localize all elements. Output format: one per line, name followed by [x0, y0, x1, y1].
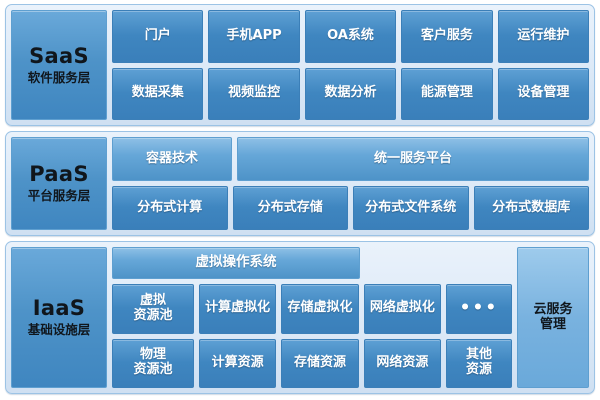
saas-cell-oa-system[interactable]: OA系统 — [305, 10, 396, 63]
layer-saas-abbr: SaaS — [29, 46, 89, 67]
saas-cell-portal[interactable]: 门户 — [112, 10, 203, 63]
iaas-cell-storage-resource[interactable]: 存储资源 — [281, 339, 358, 389]
layer-saas: SaaS 软件服务层 门户 手机APP OA系统 客户服务 运行维护 数据采集 … — [5, 4, 595, 126]
iaas-row-2: 物理 资源池 计算资源 存储资源 网络资源 其他 资源 — [112, 339, 512, 389]
layer-saas-body: 门户 手机APP OA系统 客户服务 运行维护 数据采集 视频监控 数据分析 能… — [112, 10, 589, 120]
iaas-main-stack: 虚拟操作系统 虚拟 资源池 计算虚拟化 存储虚拟化 网络虚拟化 ••• 物理 资… — [112, 247, 512, 388]
paas-cell-unified-service-platform[interactable]: 统一服务平台 — [237, 137, 589, 181]
iaas-cell-more-virtualization-ellipsis[interactable]: ••• — [446, 284, 512, 334]
paas-row-1: 容器技术 统一服务平台 — [112, 137, 589, 181]
iaas-cell-compute-virtualization[interactable]: 计算虚拟化 — [199, 284, 276, 334]
saas-row-1: 门户 手机APP OA系统 客户服务 运行维护 — [112, 10, 589, 63]
layer-iaas: IaaS 基础设施层 虚拟操作系统 虚拟 资源池 计算虚拟化 存储虚拟化 网络虚… — [5, 241, 595, 394]
iaas-os-row: 虚拟操作系统 — [112, 247, 512, 279]
saas-cell-mobile-app[interactable]: 手机APP — [208, 10, 299, 63]
iaas-cell-compute-resource[interactable]: 计算资源 — [199, 339, 276, 389]
iaas-row-1: 虚拟 资源池 计算虚拟化 存储虚拟化 网络虚拟化 ••• — [112, 284, 512, 334]
iaas-cell-cloud-service-management[interactable]: 云服务 管理 — [517, 247, 589, 388]
paas-cell-distributed-database[interactable]: 分布式数据库 — [474, 186, 590, 230]
saas-cell-data-collection[interactable]: 数据采集 — [112, 68, 203, 121]
saas-cell-video-monitoring[interactable]: 视频监控 — [208, 68, 299, 121]
iaas-cell-network-resource[interactable]: 网络资源 — [364, 339, 441, 389]
paas-cell-distributed-computing[interactable]: 分布式计算 — [112, 186, 228, 230]
iaas-cell-virtual-operating-system[interactable]: 虚拟操作系统 — [112, 247, 360, 279]
saas-cell-energy-management[interactable]: 能源管理 — [401, 68, 492, 121]
layer-paas-body: 容器技术 统一服务平台 分布式计算 分布式存储 分布式文件系统 分布式数据库 — [112, 137, 589, 230]
layer-paas-abbr: PaaS — [29, 164, 89, 185]
paas-row-2: 分布式计算 分布式存储 分布式文件系统 分布式数据库 — [112, 186, 589, 230]
iaas-cell-virtual-resource-pool[interactable]: 虚拟 资源池 — [112, 284, 194, 334]
saas-cell-data-analysis[interactable]: 数据分析 — [305, 68, 396, 121]
layer-iaas-title: IaaS 基础设施层 — [11, 247, 107, 388]
paas-cell-distributed-storage[interactable]: 分布式存储 — [233, 186, 349, 230]
saas-cell-customer-service[interactable]: 客户服务 — [401, 10, 492, 63]
saas-cell-device-management[interactable]: 设备管理 — [498, 68, 589, 121]
layer-saas-name-cn: 软件服务层 — [28, 72, 91, 85]
layer-iaas-abbr: IaaS — [33, 298, 85, 319]
iaas-cell-storage-virtualization[interactable]: 存储虚拟化 — [281, 284, 358, 334]
iaas-cell-physical-resource-pool[interactable]: 物理 资源池 — [112, 339, 194, 389]
paas-cell-distributed-file-system[interactable]: 分布式文件系统 — [353, 186, 469, 230]
layer-iaas-name-cn: 基础设施层 — [28, 324, 91, 337]
iaas-cell-other-resource[interactable]: 其他 资源 — [446, 339, 512, 389]
layer-paas: PaaS 平台服务层 容器技术 统一服务平台 分布式计算 分布式存储 分布式文件… — [5, 131, 595, 236]
saas-row-2: 数据采集 视频监控 数据分析 能源管理 设备管理 — [112, 68, 589, 121]
layer-iaas-body: 虚拟操作系统 虚拟 资源池 计算虚拟化 存储虚拟化 网络虚拟化 ••• 物理 资… — [112, 247, 589, 388]
layer-paas-title: PaaS 平台服务层 — [11, 137, 107, 230]
saas-cell-operation-maintenance[interactable]: 运行维护 — [498, 10, 589, 63]
layer-paas-name-cn: 平台服务层 — [28, 190, 91, 203]
layer-saas-title: SaaS 软件服务层 — [11, 10, 107, 120]
cloud-architecture-diagram: SaaS 软件服务层 门户 手机APP OA系统 客户服务 运行维护 数据采集 … — [0, 0, 600, 400]
iaas-cell-network-virtualization[interactable]: 网络虚拟化 — [364, 284, 441, 334]
paas-cell-container-tech[interactable]: 容器技术 — [112, 137, 232, 181]
